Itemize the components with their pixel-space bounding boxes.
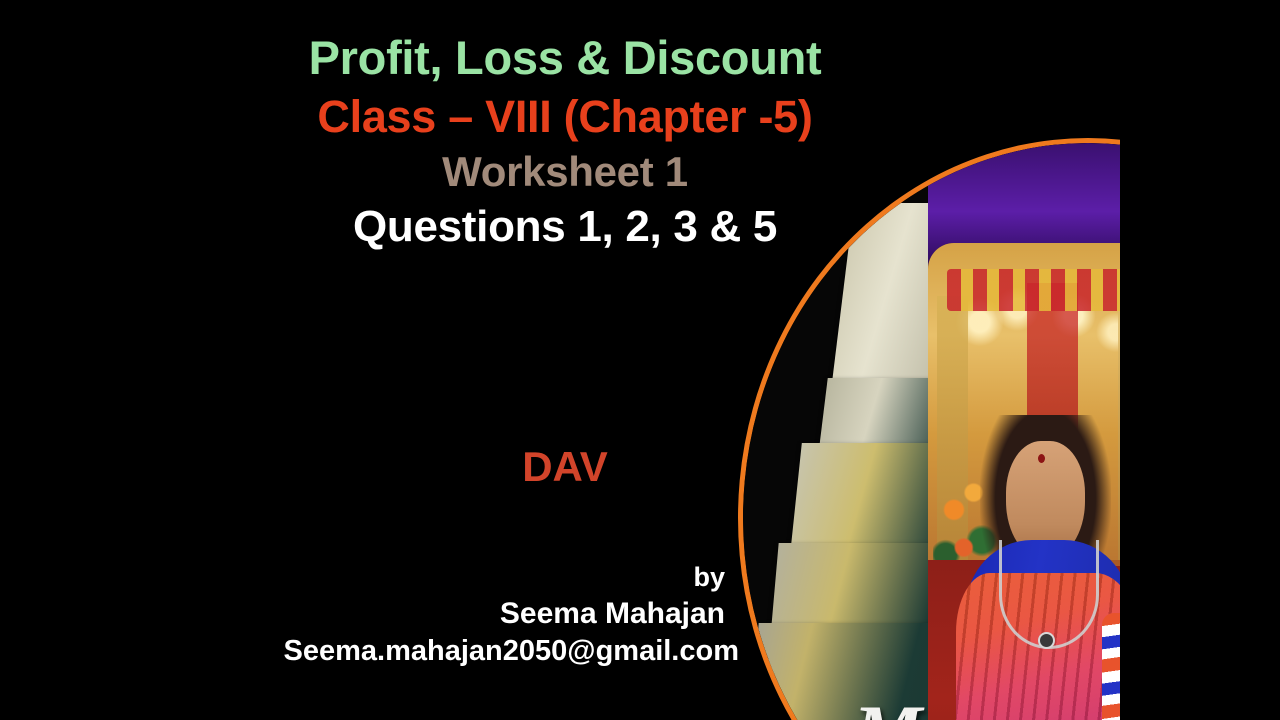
questions-subtitle: Questions 1, 2, 3 & 5 [155, 205, 975, 249]
worksheet-subtitle: Worksheet 1 [155, 151, 975, 193]
credit-author: Seema Mahajan [60, 594, 725, 633]
mandap-garland [947, 269, 1144, 311]
credit-email: Seema.mahajan2050@gmail.com [60, 633, 739, 669]
class-chapter-subtitle: Class – VIII (Chapter -5) [155, 94, 975, 139]
credit-by-label: by [60, 562, 725, 594]
credits-block: by Seema Mahajan Seema.mahajan2050@gmail… [60, 562, 725, 669]
right-black-margin [1120, 0, 1280, 720]
page-title: Profit, Loss & Discount [155, 34, 975, 81]
title-block: Profit, Loss & Discount Class – VIII (Ch… [155, 34, 975, 249]
title-slide: Math [0, 0, 1280, 720]
organization-name: DAV [155, 443, 975, 491]
